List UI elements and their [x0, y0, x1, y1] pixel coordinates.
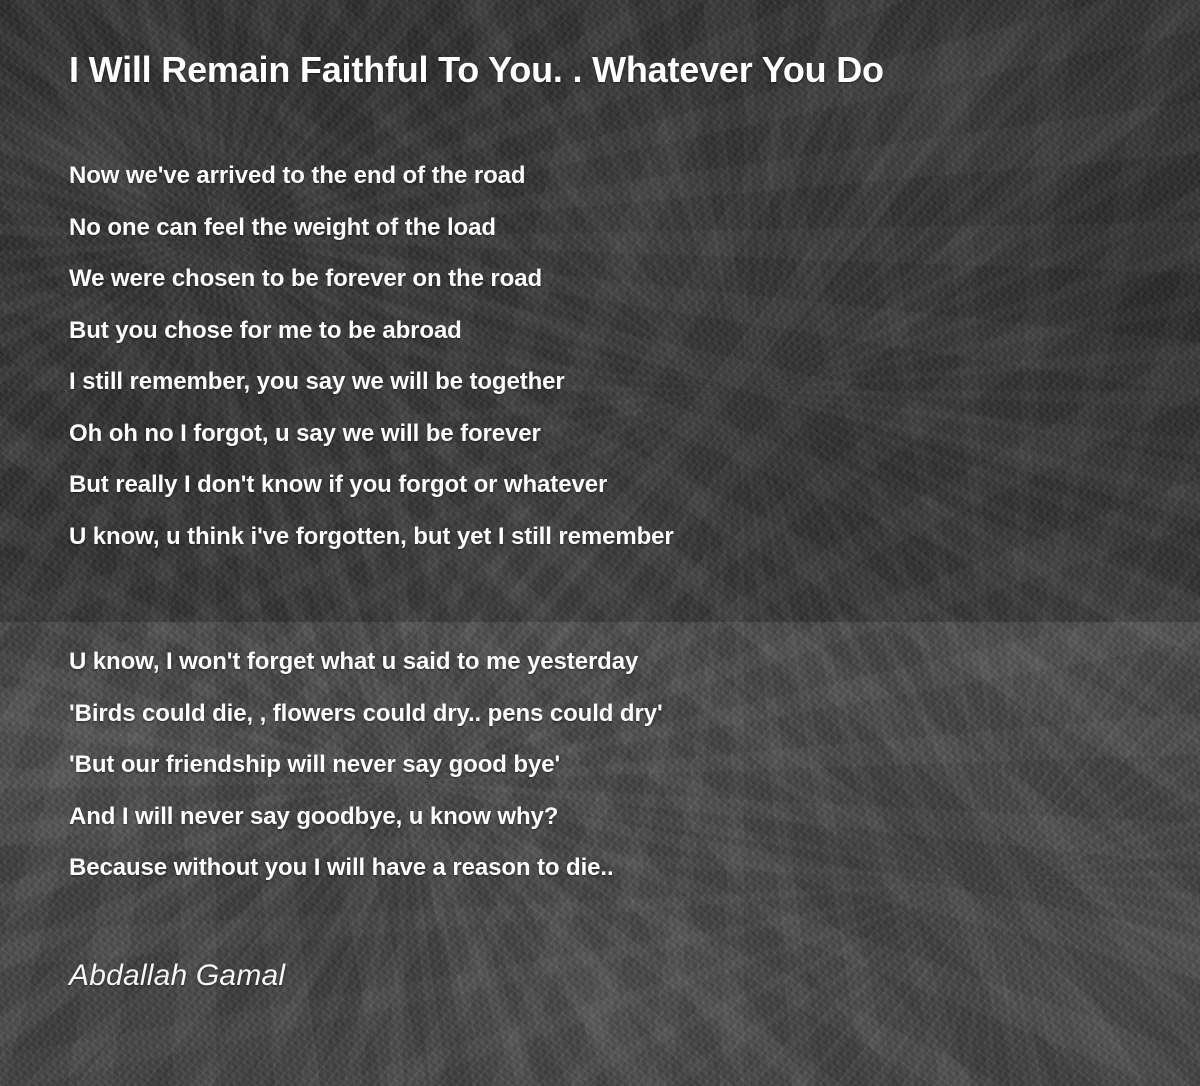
poem-author-name: Abdallah Gamal — [69, 959, 1200, 993]
poem-line: U know, I won't forget what u said to me… — [69, 636, 1200, 688]
poem-line: U know, u think i've forgotten, but yet … — [69, 511, 1200, 563]
poem-line: Because without you I will have a reason… — [69, 842, 1200, 894]
poem-line: Oh oh no I forgot, u say we will be fore… — [69, 408, 1200, 460]
poem-line: I still remember, you say we will be tog… — [69, 356, 1200, 408]
poem-line: But really I don't know if you forgot or… — [69, 459, 1200, 511]
poem-stanza-1: Now we've arrived to the end of the road… — [69, 150, 1200, 562]
poem-line: No one can feel the weight of the load — [69, 202, 1200, 254]
poem-title: I Will Remain Faithful To You. . Whateve… — [69, 0, 929, 93]
poem-line: 'But our friendship will never say good … — [69, 739, 1200, 791]
poem-image-card: I Will Remain Faithful To You. . Whateve… — [0, 0, 1200, 1086]
poem-line: And I will never say goodbye, u know why… — [69, 791, 1200, 843]
poem-content: I Will Remain Faithful To You. . Whateve… — [0, 0, 1200, 993]
poem-line: We were chosen to be forever on the road — [69, 253, 1200, 305]
poem-stanza-2: U know, I won't forget what u said to me… — [69, 636, 1200, 894]
poem-line: Now we've arrived to the end of the road — [69, 150, 1200, 202]
poem-line: 'Birds could die, , flowers could dry.. … — [69, 688, 1200, 740]
poem-line: But you chose for me to be abroad — [69, 305, 1200, 357]
